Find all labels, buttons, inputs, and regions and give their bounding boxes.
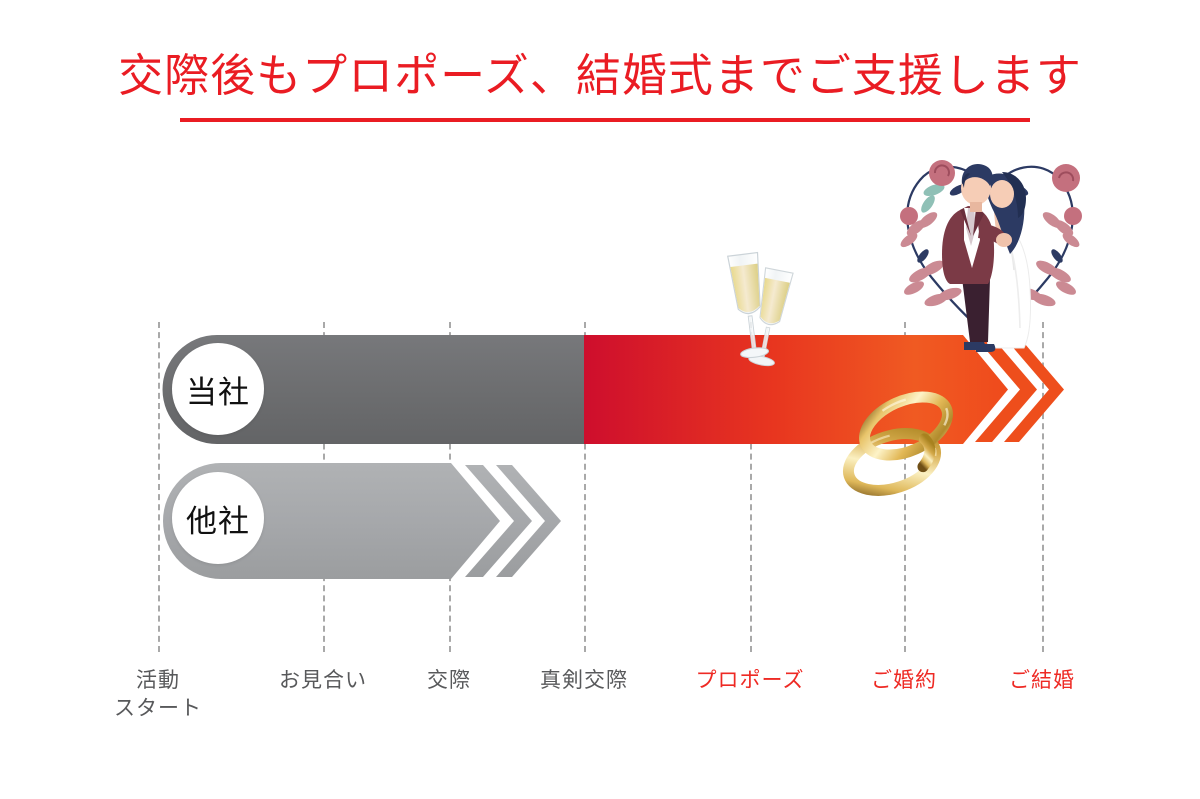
stage-label-7: ご結婚 (1009, 666, 1075, 694)
page-title: 交際後もプロポーズ、結婚式までご支援します (0, 52, 1200, 99)
badge-others-label: 他社 (186, 496, 250, 541)
title-underline-rule (180, 118, 1030, 122)
wedding-rings-illustration (834, 378, 970, 500)
badge-ours: 当社 (172, 343, 264, 435)
badge-ours-label: 当社 (186, 367, 250, 412)
rose-left (929, 160, 955, 186)
stage-label-3: 交際 (427, 666, 471, 694)
wedding-couple-illustration (876, 128, 1104, 360)
infographic-canvas: 交際後もプロポーズ、結婚式までご支援します (0, 0, 1200, 799)
wedding-couple-svg (876, 128, 1104, 360)
rose-right (1052, 164, 1080, 192)
stage-label-1: 活動 スタート (114, 666, 202, 723)
rose-left-lower (900, 207, 918, 225)
stage-label-2: お見合い (279, 666, 367, 694)
stage-label-6: ご婚約 (871, 666, 937, 694)
wedding-rings-svg (834, 378, 970, 500)
timeline-tick-1 (158, 322, 160, 652)
page-title-text: 交際後もプロポーズ、結婚式までご支援します (0, 52, 1200, 99)
champagne-glasses-svg (708, 228, 816, 388)
stage-label-4: 真剣交際 (540, 666, 628, 694)
champagne-glasses-illustration (708, 228, 816, 388)
rose-right-lower (1064, 207, 1082, 225)
badge-others: 他社 (172, 472, 264, 564)
stage-label-5: プロポーズ (696, 666, 805, 694)
